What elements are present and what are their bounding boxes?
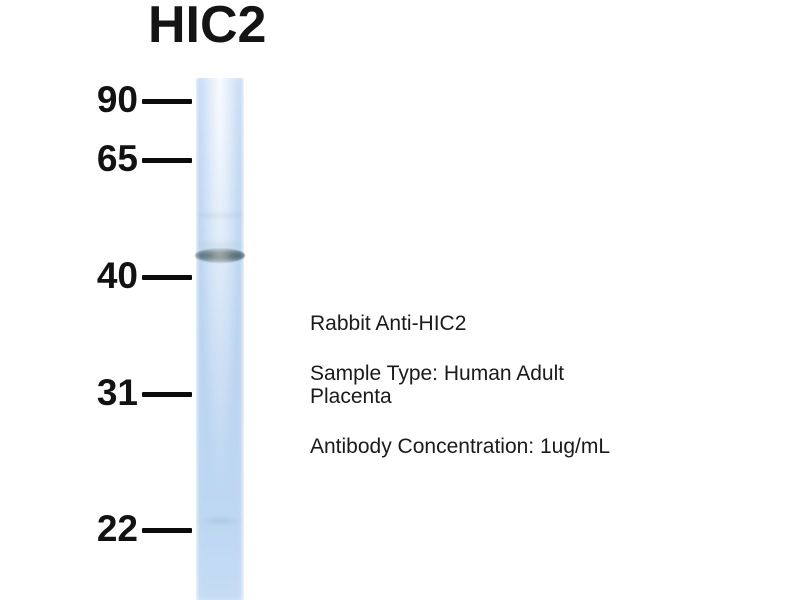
mw-marker-label: 90 (78, 81, 138, 118)
mw-marker-label: 65 (78, 140, 138, 177)
mw-marker-tick (142, 158, 192, 163)
western-blot-figure: HIC2 9065403122 Rabbit Anti-HIC2 Sample … (0, 0, 800, 600)
caption-antibody: Rabbit Anti-HIC2 (310, 312, 750, 336)
mw-marker-tick (142, 392, 192, 397)
gel-lane (196, 78, 244, 600)
protein-band-primary (195, 248, 245, 263)
figure-caption: Rabbit Anti-HIC2 Sample Type: Human Adul… (310, 312, 750, 459)
protein-band-faint-3 (198, 516, 242, 526)
protein-band-faint-1 (198, 211, 242, 220)
mw-marker-tick (142, 528, 192, 533)
mw-marker-tick (142, 99, 192, 104)
mw-marker-label: 31 (78, 374, 138, 411)
page-title: HIC2 (148, 0, 266, 53)
mw-marker-label: 40 (78, 257, 138, 294)
caption-sample-type: Sample Type: Human Adult Placenta (310, 362, 750, 409)
mw-marker-label: 22 (78, 510, 138, 547)
protein-band-faint-2 (198, 240, 242, 250)
caption-antibody-concentration: Antibody Concentration: 1ug/mL (310, 435, 750, 459)
mw-marker-tick (142, 275, 192, 280)
